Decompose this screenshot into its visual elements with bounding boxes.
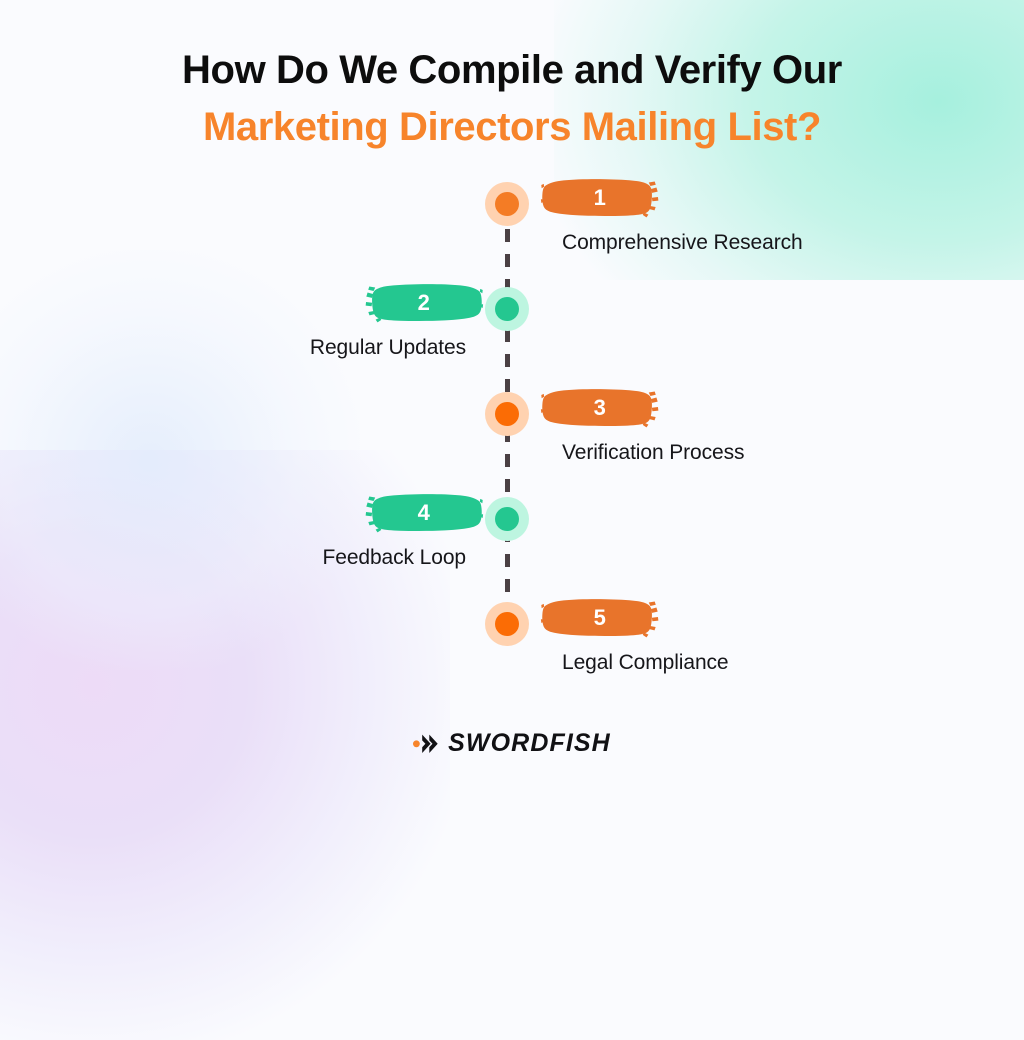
timeline-node-core	[495, 507, 519, 531]
title-line-primary: How Do We Compile and Verify Our	[0, 42, 1024, 99]
timeline-node-core	[495, 192, 519, 216]
timeline-item-content: 3Verification Process	[540, 386, 744, 465]
step-number: 5	[540, 596, 660, 640]
timeline-node-dot	[485, 392, 529, 436]
timeline-item-content: 5Legal Compliance	[540, 596, 729, 675]
infographic-page: How Do We Compile and Verify Our Marketi…	[0, 0, 1024, 800]
timeline-node-dot	[485, 287, 529, 331]
timeline-node-dot	[485, 602, 529, 646]
timeline-node-core	[495, 297, 519, 321]
timeline-item-content: 1Comprehensive Research	[540, 176, 803, 255]
chevron-dot-logo-icon	[413, 733, 439, 755]
brand-name: SWORDFISH	[448, 729, 611, 758]
step-number-brush-badge: 3	[540, 386, 660, 430]
step-number-brush-badge: 4	[364, 491, 484, 535]
step-label: Verification Process	[562, 441, 744, 465]
step-number-brush-badge: 2	[364, 281, 484, 325]
step-label: Legal Compliance	[562, 651, 729, 675]
brand-logo: SWORDFISH	[0, 729, 1024, 758]
page-title: How Do We Compile and Verify Our Marketi…	[0, 42, 1024, 156]
process-timeline: 1Comprehensive Research2Regular Updates3…	[0, 178, 1024, 698]
timeline-node-core	[495, 612, 519, 636]
timeline-item-content: 4Feedback Loop	[323, 491, 484, 570]
step-number: 1	[540, 176, 660, 220]
step-number-brush-badge: 5	[540, 596, 660, 640]
step-label: Comprehensive Research	[562, 231, 803, 255]
title-line-accent: Marketing Directors Mailing List?	[0, 99, 1024, 156]
timeline-node-core	[495, 402, 519, 426]
timeline-item-content: 2Regular Updates	[310, 281, 484, 360]
timeline-node-dot	[485, 497, 529, 541]
step-label: Regular Updates	[310, 336, 466, 360]
step-label: Feedback Loop	[323, 546, 466, 570]
step-number: 3	[540, 386, 660, 430]
step-number: 2	[364, 281, 484, 325]
step-number: 4	[364, 491, 484, 535]
timeline-node-dot	[485, 182, 529, 226]
step-number-brush-badge: 1	[540, 176, 660, 220]
